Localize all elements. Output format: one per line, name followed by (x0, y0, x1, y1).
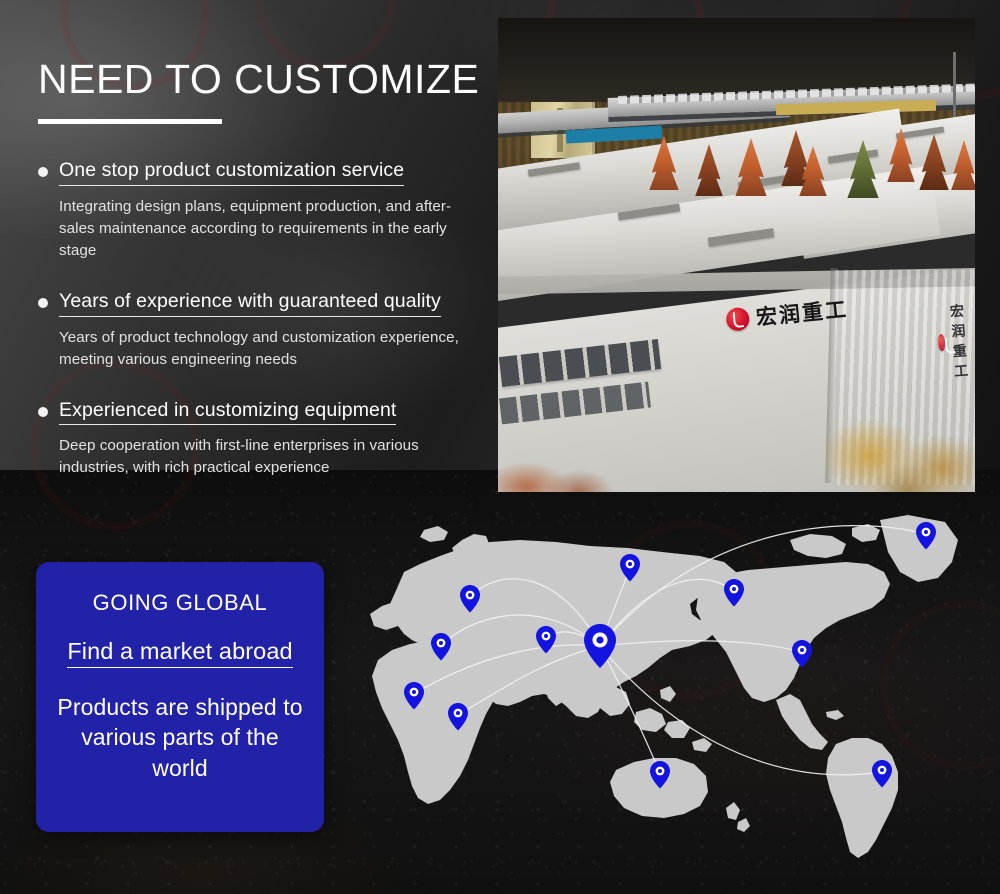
copy-column: NEED TO CUSTOMIZE One stop product custo… (38, 58, 490, 479)
photo-foreground-foliage (498, 422, 628, 492)
list-item: One stop product customization service I… (38, 158, 490, 262)
feature-heading-row: One stop product customization service (38, 158, 490, 186)
title-underline-rule (38, 119, 222, 124)
feature-description: Deep cooperation with first-line enterpr… (59, 435, 459, 479)
feature-heading-row: Experienced in customizing equipment (38, 398, 490, 426)
company-logo-icon (725, 306, 750, 331)
bullet-dot-icon (38, 407, 48, 417)
going-global-kicker: GOING GLOBAL (54, 590, 306, 616)
feature-heading-row: Years of experience with guaranteed qual… (38, 289, 490, 317)
going-global-card: GOING GLOBAL Find a market abroad Produc… (36, 562, 324, 832)
world-map (330, 500, 1000, 860)
factory-photo: 宏润重工 宏润重工 (498, 18, 975, 492)
feature-description: Years of product technology and customiz… (59, 327, 459, 371)
poster-canvas: NEED TO CUSTOMIZE One stop product custo… (0, 0, 1000, 894)
bullet-dot-icon (38, 167, 48, 177)
feature-description: Integrating design plans, equipment prod… (59, 196, 459, 262)
bullet-dot-icon (38, 298, 48, 308)
feature-title: Years of experience with guaranteed qual… (59, 289, 441, 317)
company-logo-icon (937, 333, 945, 350)
world-map-svg (330, 500, 1000, 860)
map-landmasses (370, 515, 958, 858)
page-title: NEED TO CUSTOMIZE (38, 58, 490, 101)
going-global-body: Products are shipped to various parts of… (54, 692, 306, 783)
feature-title: Experienced in customizing equipment (59, 398, 396, 426)
feature-title: One stop product customization service (59, 158, 404, 186)
photo-light-pole (953, 52, 956, 124)
photo-foreground-foliage (825, 372, 975, 492)
list-item: Years of experience with guaranteed qual… (38, 289, 490, 371)
find-market-link[interactable]: Find a market abroad (67, 638, 292, 668)
list-item: Experienced in customizing equipment Dee… (38, 398, 490, 480)
feature-list: One stop product customization service I… (38, 158, 490, 479)
building-sign-secondary: 宏润重工 (935, 300, 975, 383)
